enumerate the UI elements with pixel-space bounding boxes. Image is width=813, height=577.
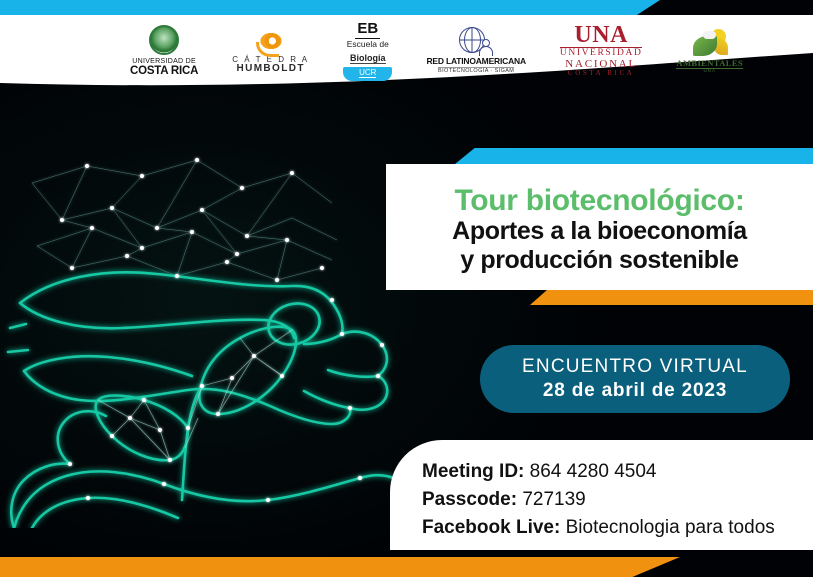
logo-eb-line2: Biología <box>350 54 386 64</box>
meeting-id-row: Meeting ID: 864 4280 4504 <box>422 458 813 486</box>
logo-escuela-biologia: EB Escuela de Biología UCR <box>343 21 392 81</box>
eb-monogram-icon: EB <box>355 21 380 39</box>
leaf-green-icon <box>693 36 717 56</box>
logo-una-line3: COSTA RICA <box>568 70 634 77</box>
passcode-label: Passcode: <box>422 489 517 510</box>
event-type: ENCUENTRO VIRTUAL <box>522 355 748 379</box>
logo-eb-badge: UCR <box>343 67 392 80</box>
logo-catedra-humboldt: C Á T E D R A HUMBOLDT <box>232 28 309 75</box>
meeting-id-label: Meeting ID: <box>422 461 524 482</box>
leaf-sun-icon <box>691 29 729 59</box>
facebook-live-label: Facebook Live: <box>422 517 560 538</box>
facebook-live-value: Biotecnologia para todos <box>566 517 775 538</box>
wireframe-hands-plant-illustration <box>0 128 412 528</box>
cloud-icon <box>703 31 716 39</box>
event-date: 28 de abril de 2023 <box>543 379 727 403</box>
logo-red-latinoamericana: RED LATINOAMERICANA BIOTECNOLOGÍA · SIGA… <box>426 27 525 75</box>
logo-humboldt-line2: HUMBOLDT <box>236 64 304 75</box>
page-title-secondary-line2: y producción sostenible <box>460 246 738 275</box>
title-card: Tour biotecnológico: Aportes a la bioeco… <box>386 164 813 290</box>
meeting-info-panel: Meeting ID: 864 4280 4504 Passcode: 7271… <box>390 440 813 550</box>
meeting-id-value: 864 4280 4504 <box>530 461 657 482</box>
logo-ucr: UNIVERSIDAD DE COSTA RICA <box>130 25 198 77</box>
passcode-value: 727139 <box>522 489 585 510</box>
person-icon <box>478 39 493 55</box>
logo-ucr-line1: UNIVERSIDAD DE <box>132 58 196 65</box>
una-wordmark-icon: UNA <box>574 24 628 47</box>
title-orange-accent-bar <box>530 290 813 305</box>
globe-person-icon <box>459 27 493 55</box>
facebook-live-row: Facebook Live: Biotecnologia para todos <box>422 514 813 542</box>
passcode-row: Passcode: 727139 <box>422 486 813 514</box>
logo-red-line1: RED LATINOAMERICANA <box>426 57 525 66</box>
humboldt-eye-icon <box>254 28 288 54</box>
page-title-primary: Tour biotecnológico: <box>454 184 744 217</box>
title-cyan-accent-bar <box>455 148 813 164</box>
logo-ambientales-una: AMBIENTALES UNA <box>676 29 743 74</box>
logo-ambientales-line2: UNA <box>703 69 716 74</box>
poster-root: UNIVERSIDAD DE COSTA RICA C Á T E D R A … <box>0 0 813 577</box>
event-badge: ENCUENTRO VIRTUAL 28 de abril de 2023 <box>480 345 790 413</box>
logo-red-line2: BIOTECNOLOGÍA · SIGAM <box>438 67 514 75</box>
top-accent-strip <box>0 0 660 15</box>
bottom-accent-bar <box>0 557 680 577</box>
ucr-seal-icon <box>149 25 179 55</box>
logo-eb-line1: Escuela de <box>347 40 389 49</box>
logo-una: UNA UNIVERSIDAD NACIONAL COSTA RICA <box>560 24 643 78</box>
page-title-secondary-line1: Aportes a la bioeconomía <box>452 217 747 246</box>
logo-ucr-line2: COSTA RICA <box>130 65 198 77</box>
logo-eb-badge-text: UCR <box>359 68 376 78</box>
logo-row: UNIVERSIDAD DE COSTA RICA C Á T E D R A … <box>0 15 813 87</box>
